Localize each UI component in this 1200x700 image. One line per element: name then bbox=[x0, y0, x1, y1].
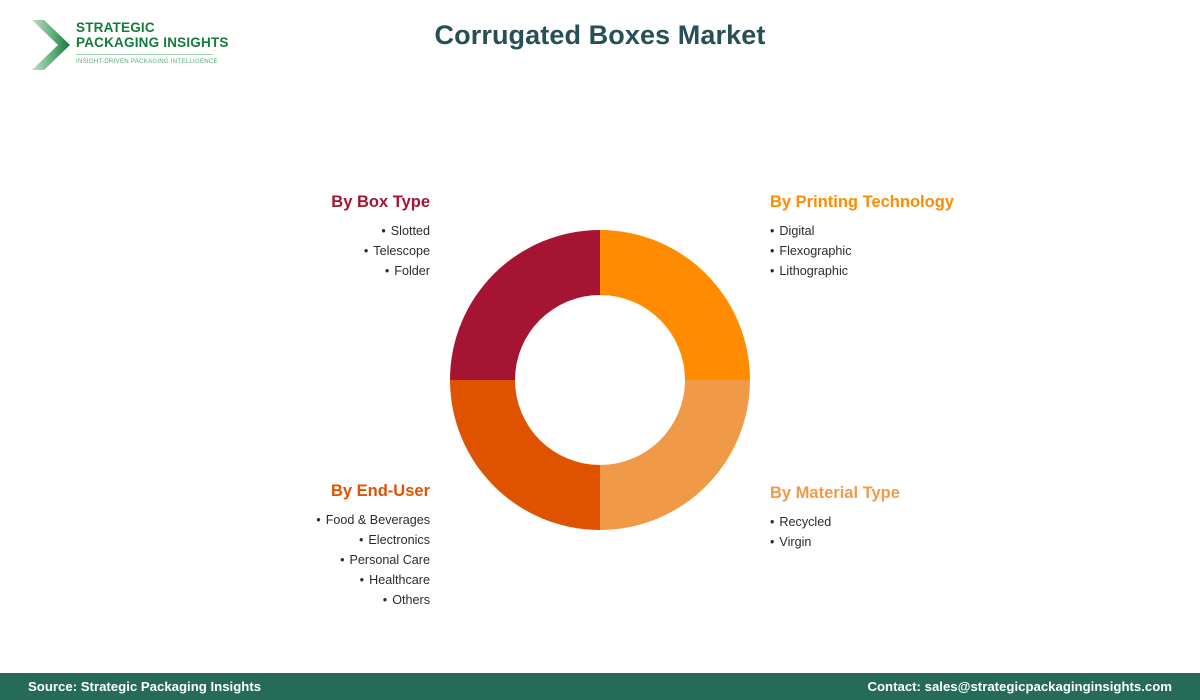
list-item: Flexographic bbox=[770, 241, 1050, 261]
donut-slice-box-type bbox=[450, 230, 600, 380]
footer-source: Source: Strategic Packaging Insights bbox=[28, 679, 261, 694]
segment-printing-technology: By Printing Technology Digital Flexograp… bbox=[770, 193, 1050, 281]
footer-contact: Contact: sales@strategicpackaginginsight… bbox=[867, 679, 1172, 694]
list-item: Telescope bbox=[190, 241, 430, 261]
segment-printing-technology-list: Digital Flexographic Lithographic bbox=[770, 221, 1050, 281]
logo-tagline: INSIGHT-DRIVEN PACKAGING INTELLIGENCE bbox=[76, 58, 226, 65]
segment-box-type-list: Slotted Telescope Folder bbox=[190, 221, 430, 281]
list-item: Virgin bbox=[770, 532, 1050, 552]
list-item: Slotted bbox=[190, 221, 430, 241]
list-item: Folder bbox=[190, 261, 430, 281]
segment-material-type-title: By Material Type bbox=[770, 484, 1050, 503]
segment-box-type-title: By Box Type bbox=[190, 193, 430, 212]
segment-box-type: By Box Type Slotted Telescope Folder bbox=[190, 193, 430, 281]
donut-slice-end-user bbox=[450, 380, 600, 530]
donut-chart bbox=[450, 230, 750, 530]
footer-bar: Source: Strategic Packaging Insights Con… bbox=[0, 673, 1200, 700]
segment-material-type: By Material Type Recycled Virgin bbox=[770, 484, 1050, 552]
segment-material-type-list: Recycled Virgin bbox=[770, 512, 1050, 552]
list-item: Food & Beverages bbox=[190, 510, 430, 530]
page-title: Corrugated Boxes Market bbox=[0, 20, 1200, 51]
list-item: Digital bbox=[770, 221, 1050, 241]
segment-end-user-list: Food & Beverages Electronics Personal Ca… bbox=[190, 510, 430, 610]
list-item: Healthcare bbox=[190, 570, 430, 590]
donut-slice-material-type bbox=[600, 380, 750, 530]
list-item: Lithographic bbox=[770, 261, 1050, 281]
list-item: Personal Care bbox=[190, 550, 430, 570]
segment-end-user-title: By End-User bbox=[190, 482, 430, 501]
list-item: Others bbox=[190, 590, 430, 610]
donut-slice-printing-technology bbox=[600, 230, 750, 380]
logo-divider bbox=[76, 54, 213, 55]
list-item: Electronics bbox=[190, 530, 430, 550]
segment-printing-technology-title: By Printing Technology bbox=[770, 193, 1050, 212]
list-item: Recycled bbox=[770, 512, 1050, 532]
segment-end-user: By End-User Food & Beverages Electronics… bbox=[190, 482, 430, 610]
